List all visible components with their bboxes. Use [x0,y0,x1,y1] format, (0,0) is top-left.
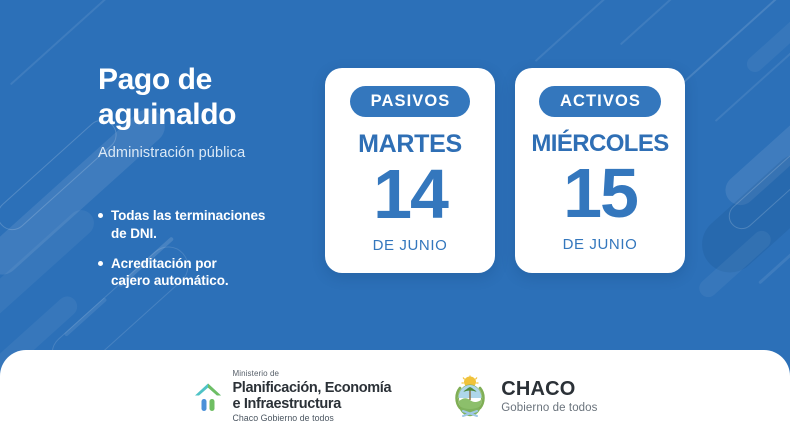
deco-bar [691,142,790,284]
conditions-list: Todas las terminaciones de DNI. Acredita… [98,207,324,291]
deco-bar [0,205,99,351]
deco-line [679,0,790,87]
ministry-text: Ministerio de Planificación, Economía e … [232,370,391,423]
deco-bar [719,99,790,212]
chaco-name: CHACO [501,379,597,399]
ministry-tagline: Chaco Gobierno de todos [232,414,391,423]
day-number: 14 [373,161,447,228]
deco-line [715,40,790,122]
page-subtitle: Administración pública [98,145,324,161]
list-item: Acreditación por cajero automático. [98,255,324,291]
chaco-tagline: Gobierno de todos [501,402,597,414]
chaco-coat-of-arms-icon [451,375,489,419]
chaco-logo: CHACO Gobierno de todos [451,375,597,419]
status-badge: ACTIVOS [539,86,661,117]
date-cards: PASIVOS MARTES 14 DE JUNIO ACTIVOS MIÉRC… [325,68,685,273]
footer-bar: Ministerio de Planificación, Economía e … [0,350,790,444]
home-icon [192,380,224,414]
deco-line [758,209,790,285]
weekday-label: MARTES [358,132,462,157]
deco-line [535,0,626,62]
status-badge: PASIVOS [350,86,471,117]
chaco-text: CHACO Gobierno de todos [501,379,597,414]
poster-canvas: Pago de aguinaldo Administración pública… [0,0,790,444]
ministry-logo: Ministerio de Planificación, Economía e … [192,370,391,423]
left-text-column: Pago de aguinaldo Administración pública… [98,63,324,302]
page-title: Pago de aguinaldo [98,63,324,133]
date-card-activos: ACTIVOS MIÉRCOLES 15 DE JUNIO [515,68,685,273]
month-label: DE JUNIO [563,236,638,253]
ministry-kicker: Ministerio de [232,370,391,378]
weekday-label: MIÉRCOLES [531,132,668,156]
deco-line [620,0,740,45]
list-item: Todas las terminaciones de DNI. [98,207,324,243]
deco-bar [696,227,775,301]
day-number: 15 [563,160,637,227]
ministry-name: Planificación, Economía e Infraestructur… [232,380,391,412]
deco-bar [744,17,790,76]
deco-line [64,297,108,337]
date-card-pasivos: PASIVOS MARTES 14 DE JUNIO [325,68,495,273]
month-label: DE JUNIO [373,237,448,254]
deco-bar-outline [723,142,790,235]
